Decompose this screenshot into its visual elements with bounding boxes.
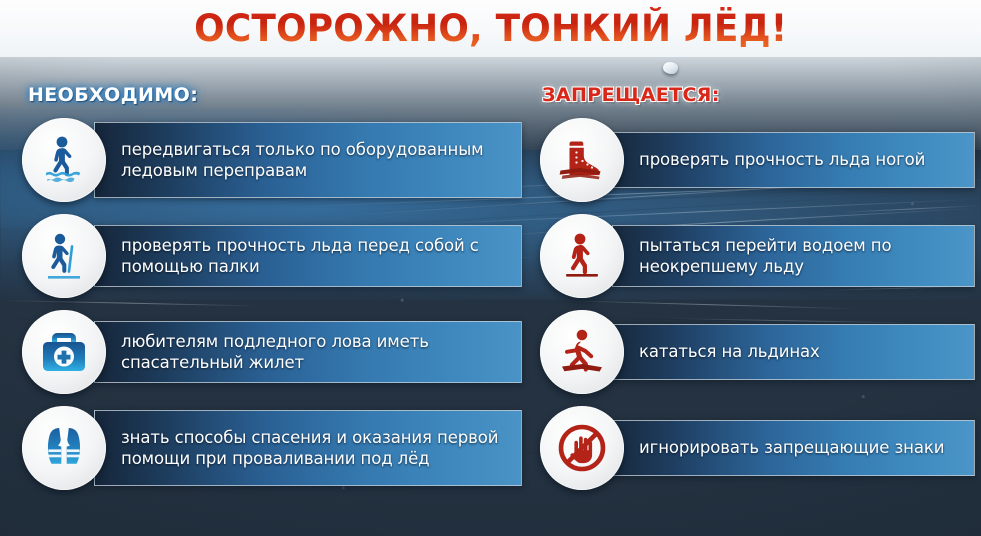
allowed-item-banner: знать способы спасения и оказания первой…	[94, 410, 522, 486]
forbidden-column-heading: ЗАПРЕЩАЕТСЯ:	[542, 84, 720, 106]
ice-safety-poster: ОСТОРОЖНО, ТОНКИЙ ЛЁД! НЕОБХОДИМО: ЗАПРЕ…	[0, 0, 981, 536]
allowed-item-banner: любителям подледного лова иметь спасател…	[94, 321, 522, 384]
allowed-item-banner: проверять прочность льда перед собой с п…	[94, 225, 522, 288]
list-item-label: кататься на льдинах	[639, 341, 820, 362]
list-item: пытаться перейти водоем по неокрепшему л…	[540, 211, 975, 301]
list-item: проверять прочность льда перед собой с п…	[22, 211, 522, 301]
forbidden-item-banner: игнорировать запрещающие знаки	[612, 420, 975, 476]
list-item: игнорировать запрещающие знаки	[540, 403, 975, 493]
list-item-label: знать способы спасения и оказания первой…	[121, 427, 507, 470]
list-item-label: проверять прочность льда перед собой с п…	[121, 235, 507, 278]
allowed-column-heading: НЕОБХОДИМО:	[28, 84, 198, 106]
list-item-label: любителям подледного лова иметь спасател…	[121, 331, 507, 374]
life-vest-icon	[22, 406, 106, 490]
boot-cracking-ice-icon	[540, 118, 624, 202]
list-item: любителям подледного лова иметь спасател…	[22, 307, 522, 397]
person-on-ice-floe-icon	[540, 310, 624, 394]
list-item-label: проверять прочность льда ногой	[639, 149, 925, 170]
header-band: ОСТОРОЖНО, ТОНКИЙ ЛЁД!	[0, 0, 981, 57]
forbidden-item-banner: кататься на льдинах	[612, 324, 975, 380]
forbidden-column: проверять прочность льда ногой пытаться …	[540, 115, 975, 493]
allowed-item-banner: передвигаться только по оборудованным ле…	[94, 122, 522, 198]
list-item: передвигаться только по оборудованным ле…	[22, 115, 522, 205]
list-item-label: пытаться перейти водоем по неокрепшему л…	[639, 235, 960, 278]
no-entry-hand-icon	[540, 406, 624, 490]
page-title: ОСТОРОЖНО, ТОНКИЙ ЛЁД!	[194, 7, 787, 50]
forbidden-item-banner: пытаться перейти водоем по неокрепшему л…	[612, 225, 975, 288]
person-walking-red-icon	[540, 214, 624, 298]
allowed-column: передвигаться только по оборудованным ле…	[22, 115, 522, 493]
first-aid-kit-icon	[22, 310, 106, 394]
list-item: знать способы спасения и оказания первой…	[22, 403, 522, 493]
list-item: проверять прочность льда ногой	[540, 115, 975, 205]
forbidden-item-banner: проверять прочность льда ногой	[612, 132, 975, 188]
list-item-label: передвигаться только по оборудованным ле…	[121, 139, 507, 182]
person-walking-on-ice-icon	[22, 118, 106, 202]
list-item-label: игнорировать запрещающие знаки	[639, 437, 944, 458]
list-item: кататься на льдинах	[540, 307, 975, 397]
person-with-stick-icon	[22, 214, 106, 298]
